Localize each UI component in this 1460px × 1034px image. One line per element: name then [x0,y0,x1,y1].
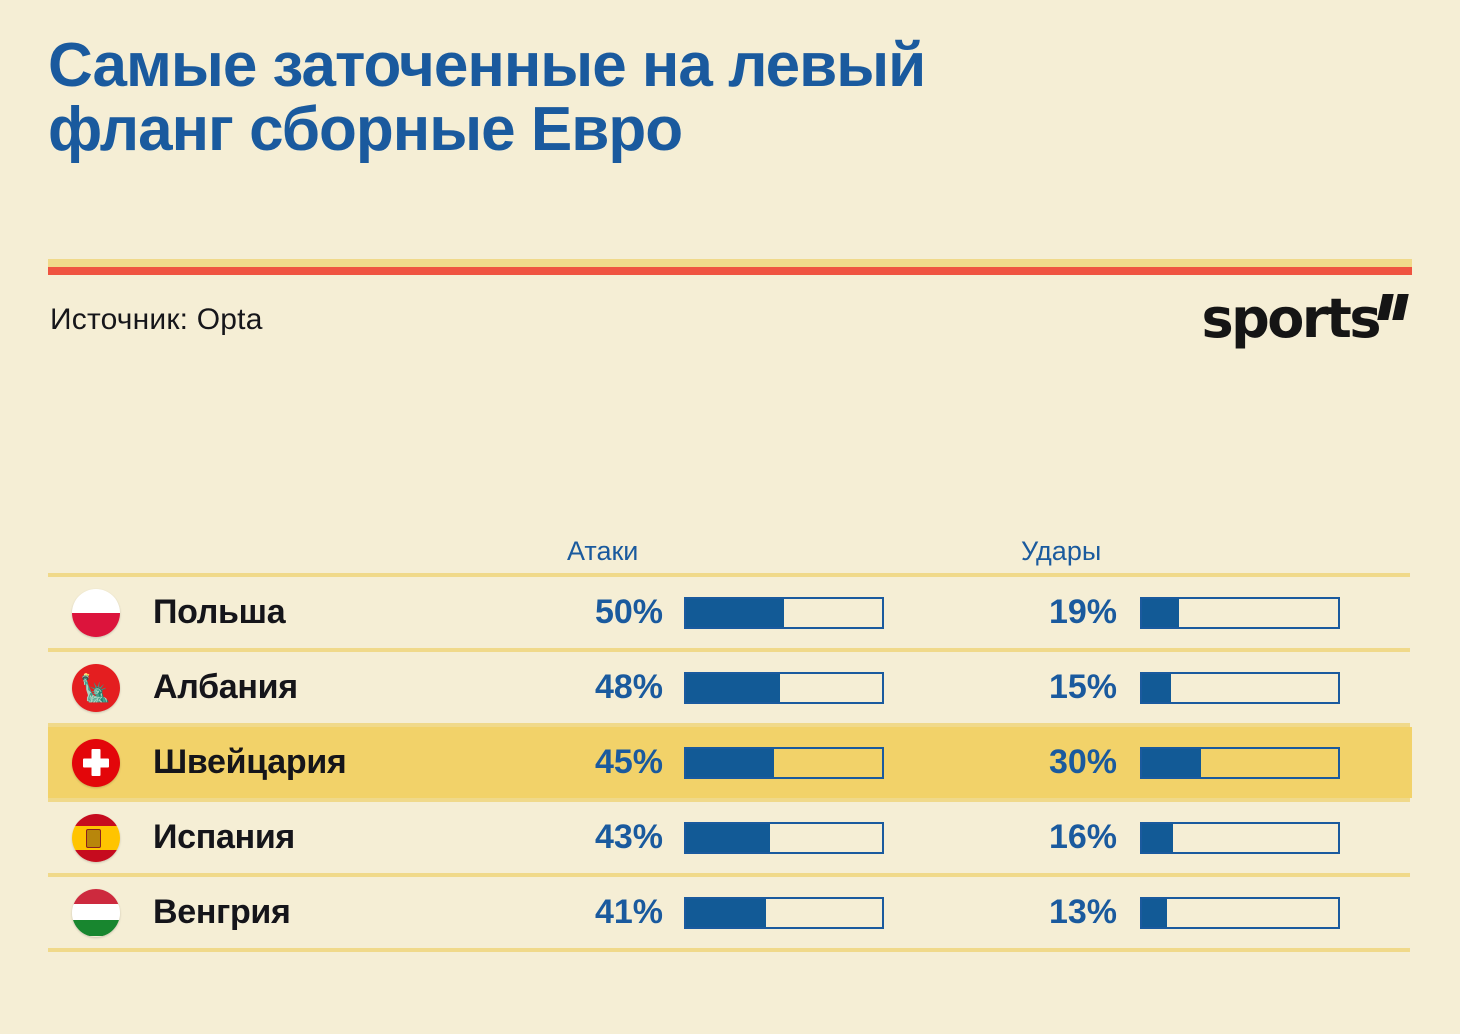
table-row: 🗽Албания48%15% [48,652,1412,723]
attacks-bar [684,897,884,929]
logo-wordmark: sports [1202,292,1379,346]
attacks-value: 41% [518,893,663,932]
stats-table: Атаки Удары Польша50%19%🗽Албания48%15%Шв… [48,525,1412,952]
shots-value: 15% [972,668,1117,707]
attacks-value: 48% [518,668,663,707]
flag-hungary-icon [72,889,120,937]
page-title: Самые заточенные на левый фланг сборные … [48,34,1412,162]
column-header-attacks: Атаки [567,536,638,567]
shots-bar-fill [1142,674,1171,702]
shots-bar [1140,597,1340,629]
attacks-bar-fill [686,749,774,777]
column-header-shots: Удары [1021,536,1101,567]
table-bottom-rule [48,948,1410,952]
shots-bar [1140,897,1340,929]
header-divider [48,259,1412,275]
shots-bar-fill [1142,824,1173,852]
attacks-bar [684,747,884,779]
shots-value: 30% [972,743,1117,782]
country-name: Испания [153,818,295,857]
shots-bar [1140,747,1340,779]
attacks-value: 43% [518,818,663,857]
attacks-bar [684,822,884,854]
shots-value: 16% [972,818,1117,857]
table-row: Испания43%16% [48,802,1412,873]
attacks-bar-fill [686,674,780,702]
shots-bar [1140,672,1340,704]
shots-bar-fill [1142,899,1167,927]
table-row: Польша50%19% [48,577,1412,648]
attacks-value: 45% [518,743,663,782]
flag-albania-icon: 🗽 [72,664,120,712]
country-name: Польша [153,593,285,632]
shots-bar-fill [1142,599,1179,627]
double-prime-icon [1380,294,1410,322]
sports-logo: sports [1202,290,1410,348]
divider-band-yellow [48,259,1412,267]
table-body: Польша50%19%🗽Албания48%15%Швейцария45%30… [48,577,1412,948]
table-row: Венгрия41%13% [48,877,1412,948]
divider-band-red [48,267,1412,275]
shots-bar-fill [1142,749,1201,777]
attacks-bar [684,672,884,704]
attacks-bar-fill [686,899,766,927]
table-row: Швейцария45%30% [48,727,1412,798]
attacks-bar-fill [686,599,784,627]
shots-value: 19% [972,593,1117,632]
shots-value: 13% [972,893,1117,932]
header: Самые заточенные на левый фланг сборные … [48,34,1412,162]
table-column-headers: Атаки Удары [48,525,1412,573]
shots-bar [1140,822,1340,854]
country-name: Венгрия [153,893,291,932]
country-name: Швейцария [153,743,346,782]
source-label: Источник: Opta [50,303,263,337]
flag-poland-icon [72,589,120,637]
country-name: Албания [153,668,298,707]
attacks-bar-fill [686,824,770,852]
infographic-canvas: Самые заточенные на левый фланг сборные … [0,0,1460,1034]
flag-spain-icon [72,814,120,862]
flag-switzerland-icon [72,739,120,787]
attacks-bar [684,597,884,629]
attacks-value: 50% [518,593,663,632]
